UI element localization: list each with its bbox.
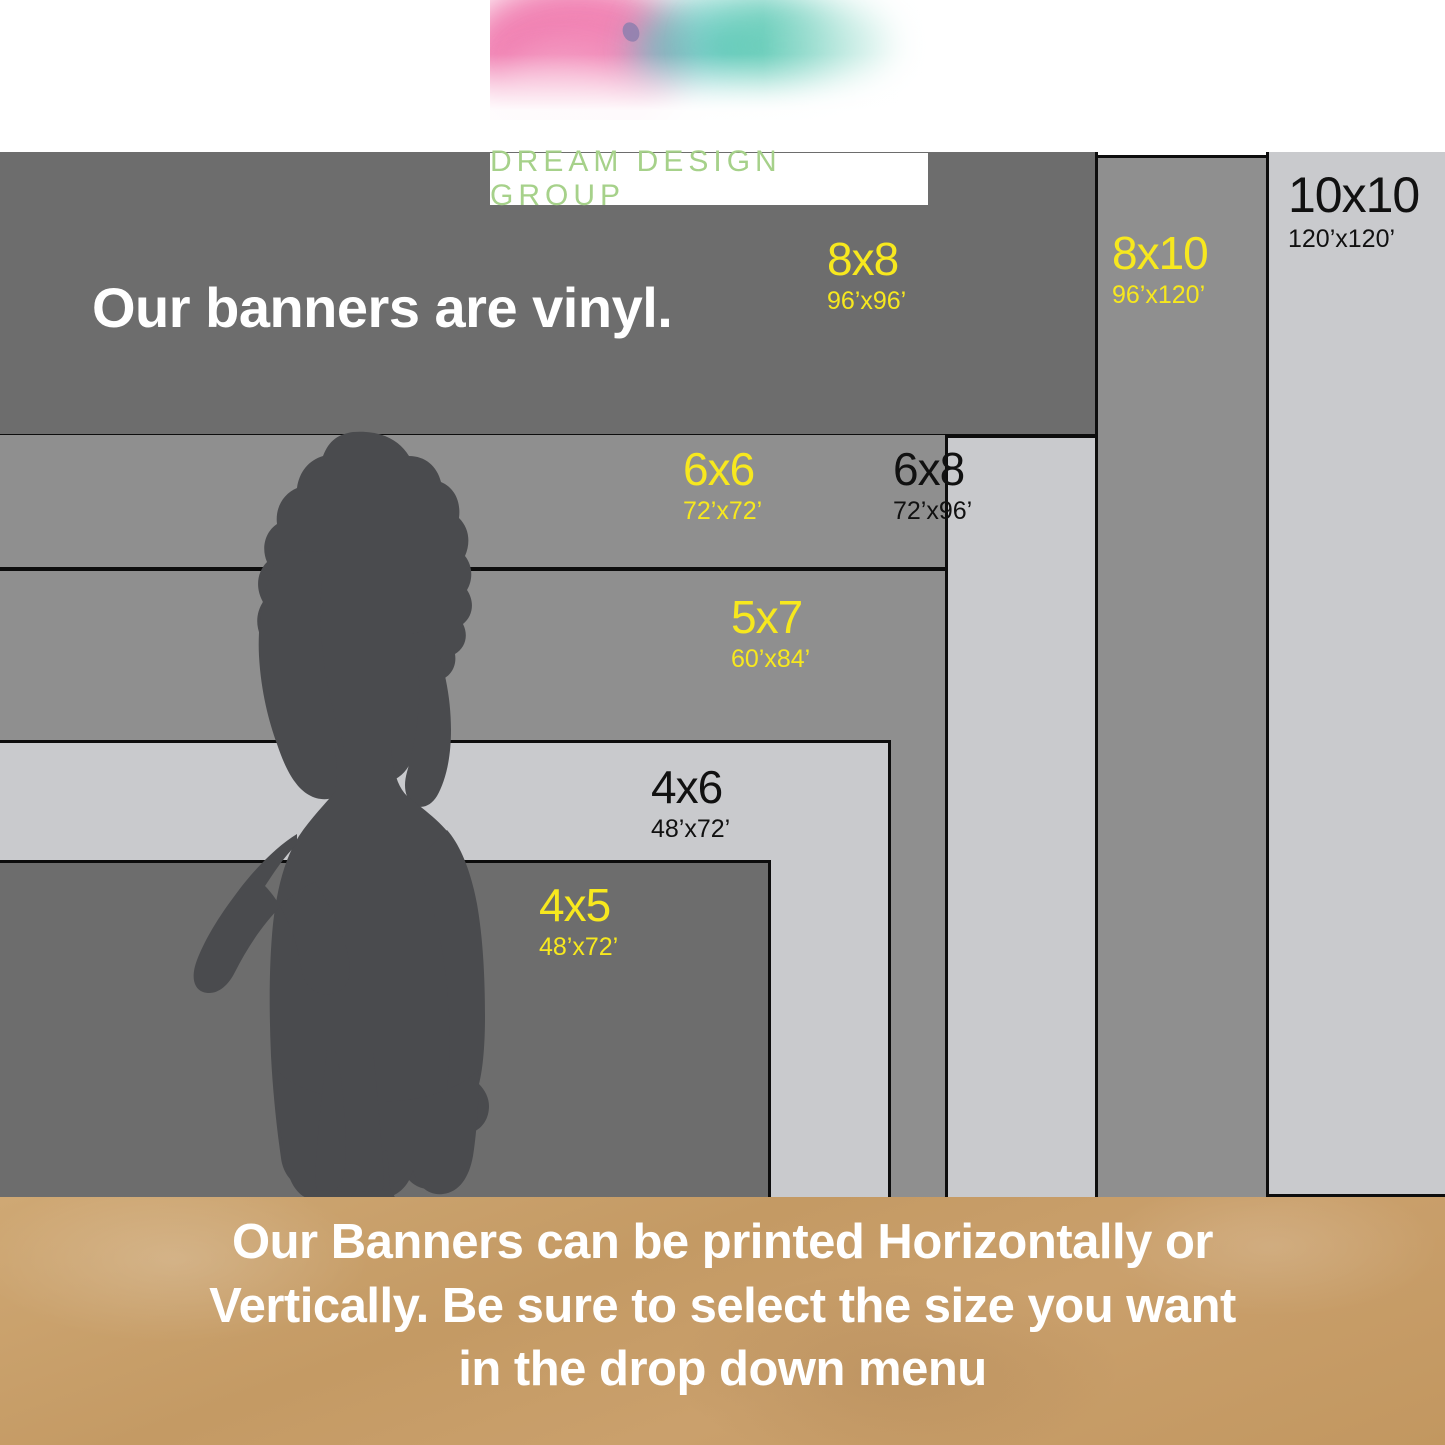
size-label-5x7-title: 5x7 (731, 594, 810, 640)
size-label-6x8-sub: 72’x96’ (893, 499, 972, 524)
size-label-4x5-title: 4x5 (539, 882, 618, 928)
woman-legs-and-feet (185, 1050, 515, 1215)
size-label-10x10: 10x10 120’x120’ (1288, 170, 1419, 252)
footer-line-1: Our Banners can be printed Horizontally … (0, 1211, 1445, 1275)
size-label-8x10: 8x10 96’x120’ (1112, 230, 1208, 308)
size-label-6x6-sub: 72’x72’ (683, 499, 762, 524)
size-label-6x6-title: 6x6 (683, 446, 762, 492)
size-label-6x8: 6x8 72’x96’ (893, 446, 972, 524)
size-label-4x6-title: 4x6 (651, 764, 730, 810)
size-label-4x5-sub: 48’x72’ (539, 935, 618, 960)
size-label-4x6: 4x6 48’x72’ (651, 764, 730, 842)
size-label-5x7-sub: 60’x84’ (731, 647, 810, 672)
page-title: Our banners are vinyl. (92, 275, 672, 340)
size-label-8x10-title: 8x10 (1112, 230, 1208, 276)
size-label-4x5: 4x5 48’x72’ (539, 882, 618, 960)
size-label-8x10-sub: 96’x120’ (1112, 283, 1208, 308)
size-label-10x10-sub: 120’x120’ (1288, 227, 1419, 252)
splash-fade-right (490, 0, 930, 120)
size-label-5x7: 5x7 60’x84’ (731, 594, 810, 672)
footer-line-3: in the drop down menu (0, 1338, 1445, 1402)
footer-line-2: Vertically. Be sure to select the size y… (0, 1275, 1445, 1339)
footer-banner: Our Banners can be printed Horizontally … (0, 1197, 1445, 1445)
watercolor-splash-graphic (490, 0, 930, 120)
size-label-8x8-sub: 96’x96’ (827, 289, 906, 314)
size-rect-10x10[interactable] (1266, 152, 1445, 1197)
size-rect-8x10[interactable] (1095, 155, 1269, 1197)
banner-size-chart-poster: 8x8 96’x96’ 8x10 96’x120’ 10x10 120’x120… (0, 0, 1445, 1445)
size-label-6x6: 6x6 72’x72’ (683, 446, 762, 524)
size-label-8x8-title: 8x8 (827, 236, 906, 282)
logo-plate: DREAM DESIGN GROUP (490, 153, 928, 205)
size-label-6x8-title: 6x8 (893, 446, 972, 492)
size-label-10x10-title: 10x10 (1288, 170, 1419, 220)
size-label-8x8: 8x8 96’x96’ (827, 236, 906, 314)
size-label-4x6-sub: 48’x72’ (651, 817, 730, 842)
footer-banner-text: Our Banners can be printed Horizontally … (0, 1211, 1445, 1402)
brand-logo-text: DREAM DESIGN GROUP (490, 145, 928, 213)
